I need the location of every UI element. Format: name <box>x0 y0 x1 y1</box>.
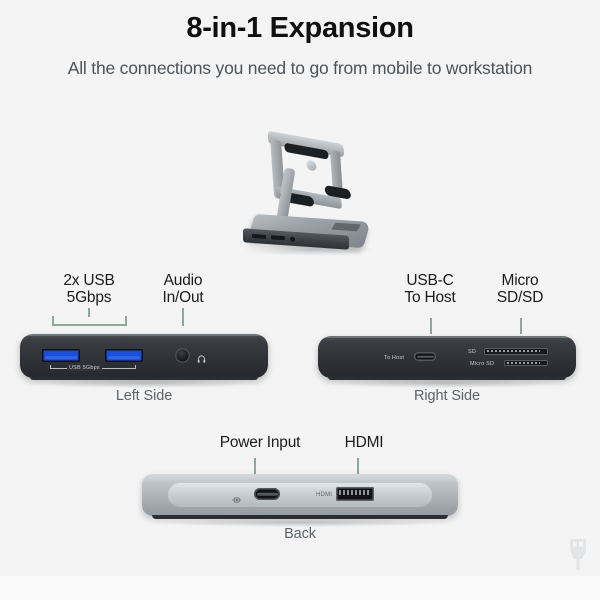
right-panel-base-strip <box>328 377 566 380</box>
hdmi-silkscreen: HDMI <box>316 492 332 498</box>
hdmi-port-lip <box>339 490 371 495</box>
brand-logo <box>331 223 360 232</box>
callout-audio: Audio In/Out <box>144 272 222 307</box>
headphone-icon <box>197 351 206 360</box>
usb-connector-icon <box>565 538 591 572</box>
hero-product-image <box>228 132 388 267</box>
usb-silkscreen-label: USB 5Gbps <box>67 365 102 371</box>
callout-usb-a-line2: 5Gbps <box>46 289 132 306</box>
sd-silkscreen: SD <box>468 349 476 355</box>
usb-c-host-port <box>414 352 436 361</box>
callout-power-input: Power Input <box>198 434 322 451</box>
audio-jack-port <box>175 348 190 363</box>
usb-a-port-1-tongue <box>45 356 77 359</box>
callout-card-reader: Micro SD/SD <box>480 272 560 307</box>
page-title: 8-in-1 Expansion <box>0 12 600 45</box>
hdmi-port <box>336 487 374 501</box>
power-input-icon <box>232 491 243 499</box>
back-panel-base-strip <box>152 515 448 519</box>
microsd-card-slot <box>504 360 548 366</box>
usb-a-port-1 <box>42 349 80 362</box>
callout-audio-line1: Audio <box>144 272 222 289</box>
callout-card-reader-leader <box>520 318 522 334</box>
microsd-silkscreen: Micro SD <box>470 361 494 367</box>
callout-audio-line2: In/Out <box>144 289 222 306</box>
callout-audio-leader <box>182 308 184 326</box>
callout-usb-a-bracket <box>52 316 127 326</box>
sd-card-slot-pins <box>487 350 540 352</box>
dock-audio-jack <box>290 237 295 242</box>
dock-usb-port-1 <box>252 234 266 239</box>
left-panel-caption: Left Side <box>20 388 268 404</box>
callout-usb-c-host-line1: USB-C <box>388 272 472 289</box>
right-panel-caption: Right Side <box>318 388 576 404</box>
callout-power-input-line1: Power Input <box>198 434 322 451</box>
callout-hdmi-line1: HDMI <box>330 434 398 451</box>
left-side-panel: USB 5Gbps <box>20 334 268 378</box>
callout-usb-a-line1: 2x USB <box>46 272 132 289</box>
callout-hdmi-leader <box>357 458 359 474</box>
callout-usb-a-stem <box>88 308 90 317</box>
callout-hdmi: HDMI <box>330 434 398 451</box>
usb-c-host-port-pin <box>417 355 434 358</box>
dock-usb-port-2 <box>271 235 285 240</box>
back-panel-caption: Back <box>142 526 458 542</box>
power-input-port-pin <box>257 493 278 496</box>
callout-usb-c-host: USB-C To Host <box>388 272 472 307</box>
back-panel: HDMI <box>142 474 458 516</box>
power-input-port <box>254 488 280 500</box>
callout-usb-c-host-line2: To Host <box>388 289 472 306</box>
usb-a-port-2 <box>105 349 143 362</box>
callout-card-reader-line1: Micro <box>480 272 560 289</box>
usb-c-host-silkscreen: To Host <box>384 355 404 361</box>
callout-usb-a: 2x USB 5Gbps <box>46 272 132 307</box>
footer-band <box>0 576 600 600</box>
callout-usb-c-host-leader <box>430 318 432 334</box>
callout-power-input-leader <box>254 458 256 474</box>
sd-card-slot <box>484 348 548 355</box>
infographic-page: 8-in-1 Expansion All the connections you… <box>0 0 600 600</box>
back-panel-inset <box>168 483 432 507</box>
microsd-card-slot-pins <box>507 362 540 364</box>
page-subtitle: All the connections you need to go from … <box>0 58 600 79</box>
usb-a-port-2-tongue <box>108 356 140 359</box>
cradle-hinge-knob <box>306 160 317 172</box>
callout-card-reader-line2: SD/SD <box>480 289 560 306</box>
right-side-panel: To Host SD Micro SD <box>318 336 576 378</box>
left-panel-base-strip <box>30 377 258 380</box>
